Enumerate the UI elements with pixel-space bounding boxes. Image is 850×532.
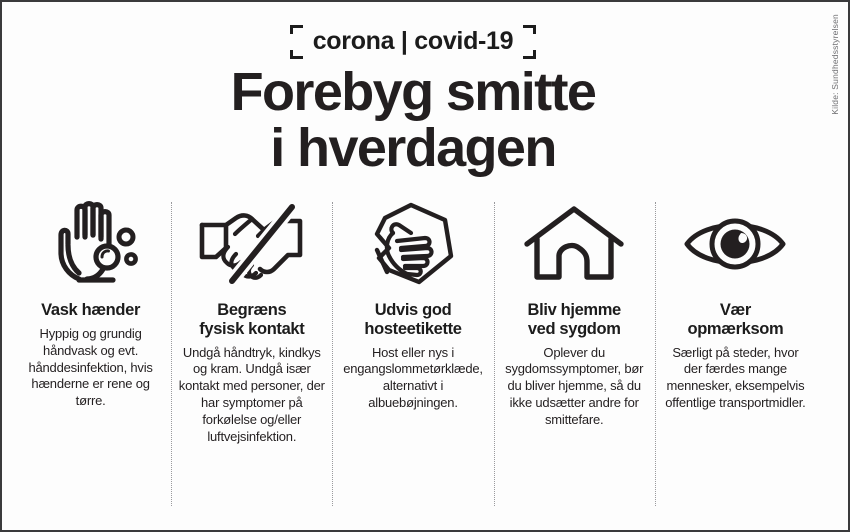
advice-title: Vask hænder <box>41 301 140 320</box>
eye-icon <box>683 198 787 290</box>
advice-title-line-1: Bliv hjemme <box>528 301 621 319</box>
advice-column-stay-home: Bliv hjemme ved sygdom Oplever du sygdom… <box>494 198 655 510</box>
advice-title: Begræns fysisk kontakt <box>199 301 304 339</box>
headline-line-1: Forebyg smitte <box>231 62 596 122</box>
advice-column-be-attentive: Vær opmærksom Særligt på steder, hvor de… <box>655 198 816 510</box>
poster-content: corona | covid-19 Forebyg smitte i hverd… <box>2 2 824 530</box>
advice-title-line-1: Vær <box>720 301 751 319</box>
advice-body: Undgå håndtryk, kindkys og kram. Undgå i… <box>178 345 325 446</box>
advice-title: Vær opmærksom <box>687 301 783 339</box>
no-handshake-icon <box>196 198 308 290</box>
page-title: Forebyg smitte i hverdagen <box>2 65 824 176</box>
advice-title-line-1: Begræns <box>217 301 286 319</box>
advice-columns: Vask hænder Hyppig og grundig håndvask o… <box>10 198 816 510</box>
advice-body: Særligt på steder, hvor der færdes mange… <box>662 345 809 413</box>
advice-title-line-2: opmærksom <box>687 320 783 338</box>
headline-line-2: i hverdagen <box>2 121 824 177</box>
infographic-poster: corona | covid-19 Forebyg smitte i hverd… <box>0 0 850 532</box>
washing-hand-icon <box>43 198 139 290</box>
advice-title-line-1: Vask hænder <box>41 301 140 319</box>
kicker-label: corona | covid-19 <box>287 24 540 60</box>
advice-body: Host eller nys i engangslommetørklæde, a… <box>339 345 486 413</box>
advice-title: Udvis god hosteetikette <box>364 301 461 339</box>
source-credit: Kilde: Sundhedsstyrelsen <box>822 2 848 530</box>
advice-body: Hyppig og grundig håndvask og evt. håndd… <box>17 326 164 410</box>
advice-body: Oplever du sygdomssymptomer, bør du bliv… <box>501 345 648 429</box>
advice-title-line-2: hosteetikette <box>364 320 461 338</box>
bracket-bottom-right-icon <box>523 33 536 59</box>
advice-column-wash-hands: Vask hænder Hyppig og grundig håndvask o… <box>10 198 171 510</box>
advice-title: Bliv hjemme ved sygdom <box>528 301 621 339</box>
source-credit-text: Kilde: Sundhedsstyrelsen <box>830 14 840 115</box>
advice-column-limit-contact: Begræns fysisk kontakt Undgå håndtryk, k… <box>171 198 332 510</box>
tissue-in-hand-icon <box>363 198 463 290</box>
advice-column-cough-etiquette: Udvis god hosteetikette Host eller nys i… <box>332 198 493 510</box>
advice-title-line-2: ved sygdom <box>528 320 621 338</box>
kicker-text: corona | covid-19 <box>313 27 514 55</box>
kicker-container: corona | covid-19 <box>2 24 824 60</box>
house-icon <box>523 198 625 290</box>
advice-title-line-2: fysisk kontakt <box>199 320 304 338</box>
advice-title-line-1: Udvis god <box>375 301 452 319</box>
bracket-bottom-left-icon <box>290 33 303 59</box>
